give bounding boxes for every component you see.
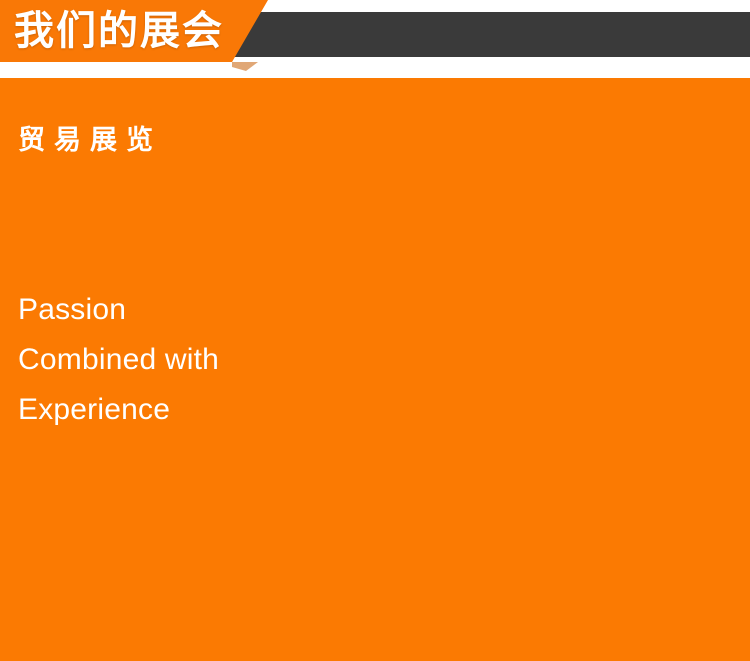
- content-area: 贸易展览 Passion Combined with Experience: [0, 78, 750, 661]
- page-root: 我们的展会 贸易展览 Passion Combined with Experie…: [0, 0, 750, 661]
- page-header: 我们的展会: [0, 0, 750, 78]
- tagline-line-3: Experience: [18, 385, 273, 435]
- header-ribbon-fold: [232, 62, 258, 71]
- tagline-line-1: Passion: [18, 285, 273, 335]
- page-title: 我们的展会: [14, 2, 224, 60]
- tagline-block: Passion Combined with Experience: [18, 285, 273, 435]
- tagline-line-2: Combined with: [18, 335, 273, 385]
- section-heading-cn: 贸易展览: [18, 124, 162, 158]
